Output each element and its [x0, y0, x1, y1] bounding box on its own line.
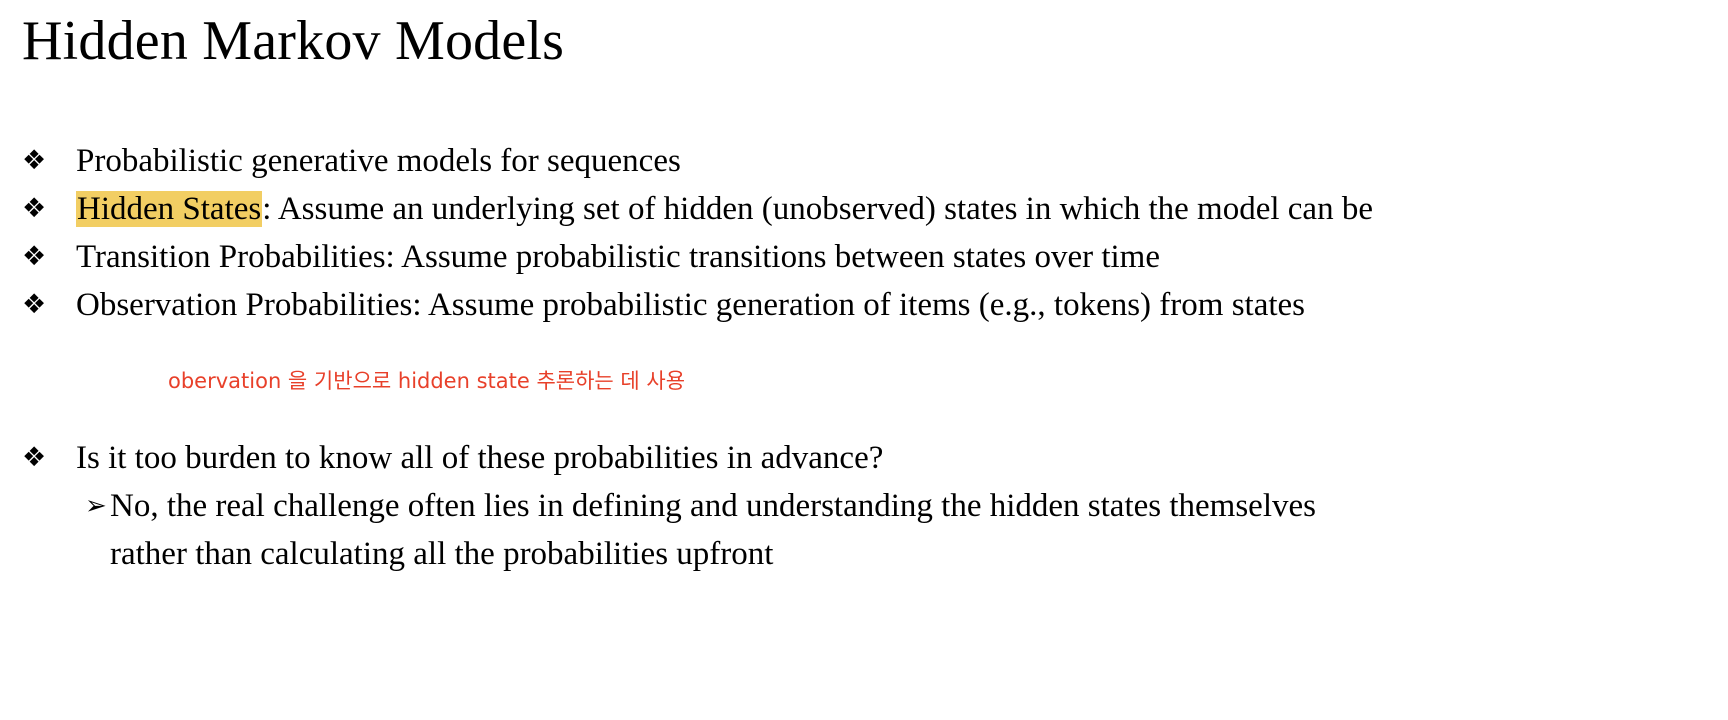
page-title: Hidden Markov Models: [22, 8, 564, 75]
list-item-text: Probabilistic generative models for sequ…: [76, 137, 1700, 185]
diamond-bullet-icon: ❖: [0, 137, 76, 185]
highlighted-term: Hidden States: [76, 191, 262, 227]
list-item: ❖ Probabilistic generative models for se…: [0, 137, 1700, 185]
arrow-bullet-icon: ➢: [0, 482, 110, 530]
diamond-bullet-icon: ❖: [0, 185, 76, 233]
list-item-text: Observation Probabilities: Assume probab…: [76, 281, 1700, 329]
list-item-text-rest: : Assume an underlying set of hidden (un…: [262, 191, 1373, 227]
list-item: ❖ Hidden States: Assume an underlying se…: [0, 185, 1700, 233]
sub-list-item-line-2: rather than calculating all the probabil…: [110, 530, 1410, 578]
question-section: ❖ Is it too burden to know all of these …: [0, 434, 1700, 578]
list-item-text: Transition Probabilities: Assume probabi…: [76, 233, 1700, 281]
list-item: ❖ Transition Probabilities: Assume proba…: [0, 233, 1700, 281]
question-text: Is it too burden to know all of these pr…: [76, 434, 1700, 482]
list-item: ❖ Observation Probabilities: Assume prob…: [0, 281, 1700, 329]
korean-annotation: obervation 을 기반으로 hidden state 추론하는 데 사용: [168, 366, 685, 396]
list-item: ❖ Is it too burden to know all of these …: [0, 434, 1700, 482]
diamond-bullet-icon: ❖: [0, 281, 76, 329]
bullet-list: ❖ Probabilistic generative models for se…: [0, 137, 1700, 329]
list-item-text: Hidden States: Assume an underlying set …: [76, 185, 1700, 233]
sub-list-item: ➢ No, the real challenge often lies in d…: [0, 482, 1700, 578]
diamond-bullet-icon: ❖: [0, 233, 76, 281]
slide-canvas: Hidden Markov Models ❖ Probabilistic gen…: [0, 0, 1728, 720]
sub-list-item-line-1: No, the real challenge often lies in def…: [110, 488, 1316, 524]
diamond-bullet-icon: ❖: [0, 434, 76, 482]
sub-list-item-text: No, the real challenge often lies in def…: [110, 482, 1410, 578]
